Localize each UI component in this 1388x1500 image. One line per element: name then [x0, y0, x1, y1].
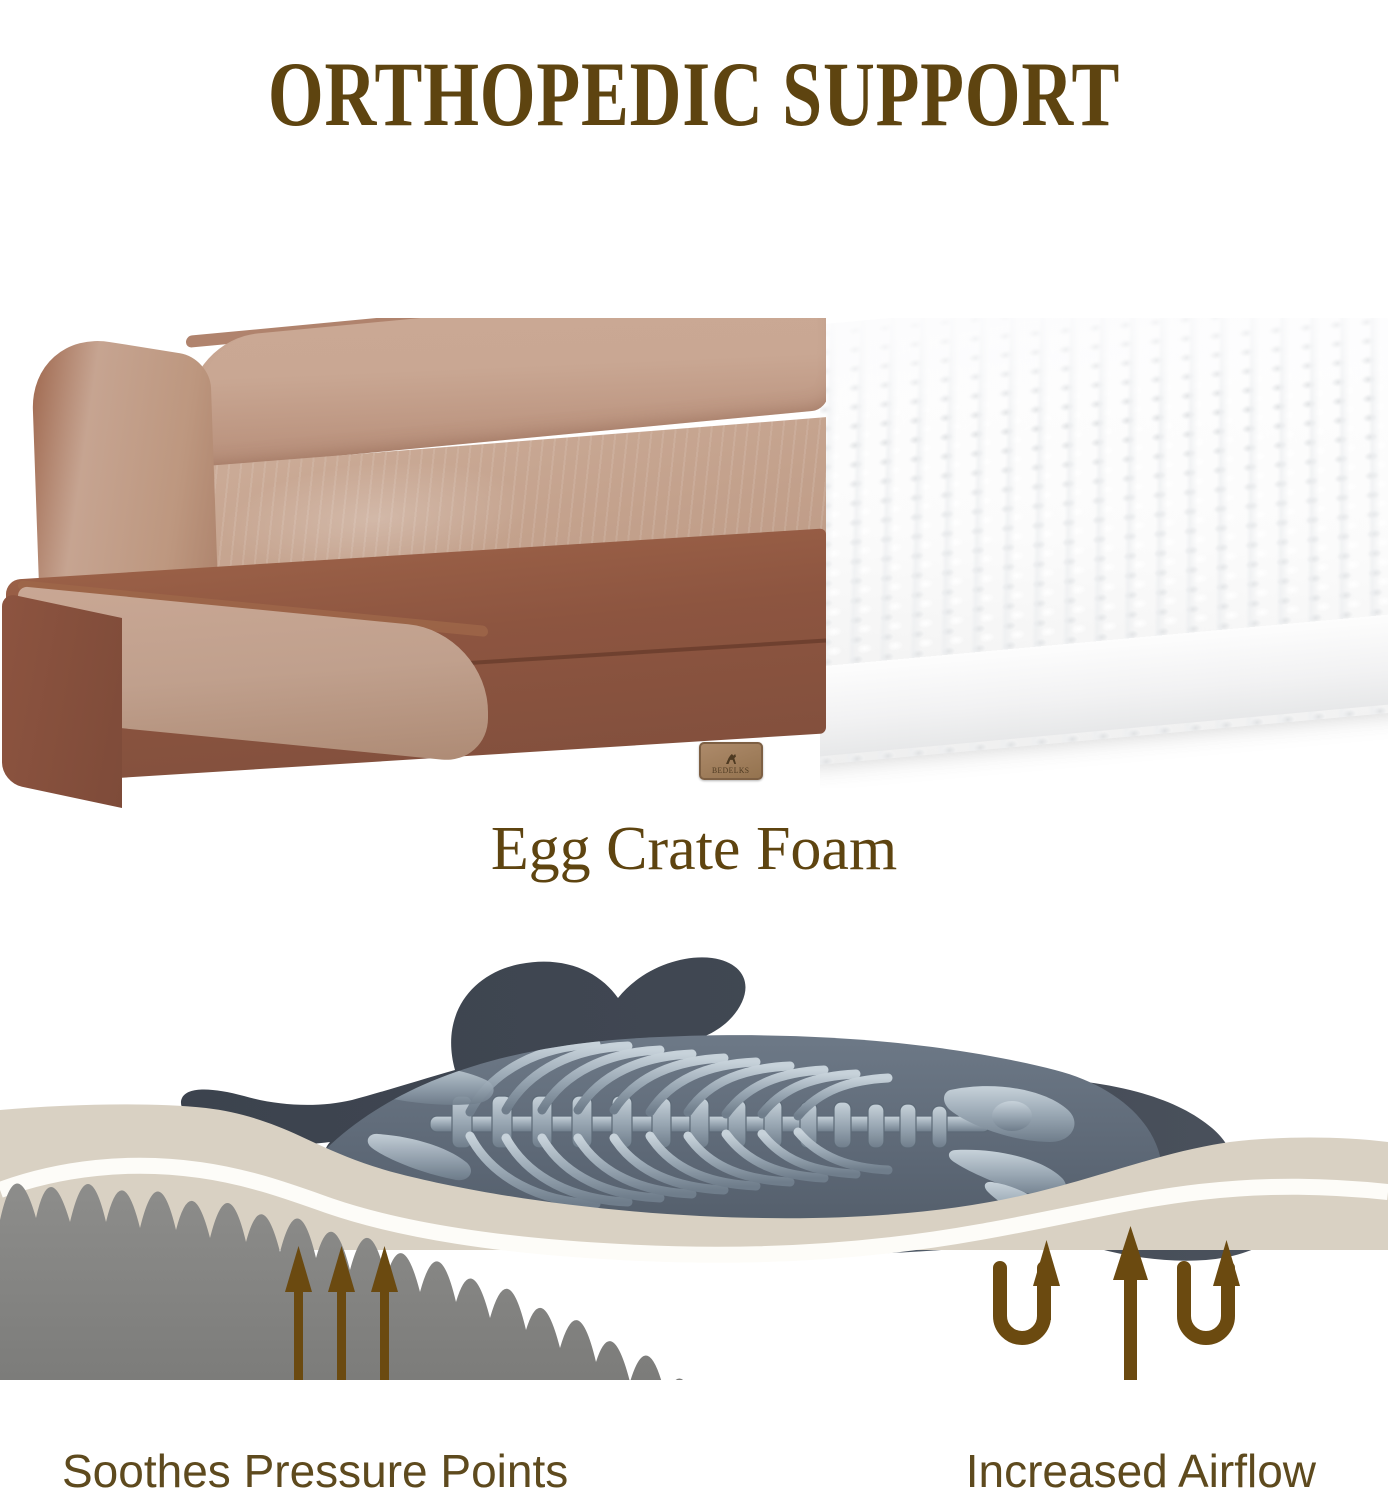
egg-crate-foam-caption: Egg Crate Foam: [0, 818, 1388, 880]
brand-logo-tag: BEDELKS: [699, 742, 763, 780]
egg-crate-foam-photo: [820, 318, 1388, 788]
bed-left-side-panel: [2, 592, 122, 808]
product-photo-composite: [0, 318, 1388, 808]
label-soothes-pressure-points: Soothes Pressure Points: [62, 1448, 568, 1494]
cutaway-diagram: [0, 920, 1388, 1380]
pressure-arrows: [285, 1246, 398, 1380]
label-increased-airflow: Increased Airflow: [966, 1448, 1316, 1494]
dog-bed-photo: [0, 318, 826, 808]
brand-tag-text: BEDELKS: [712, 767, 750, 775]
elk-icon: [721, 752, 741, 766]
page-title: ORTHOPEDIC SUPPORT: [153, 48, 1236, 140]
